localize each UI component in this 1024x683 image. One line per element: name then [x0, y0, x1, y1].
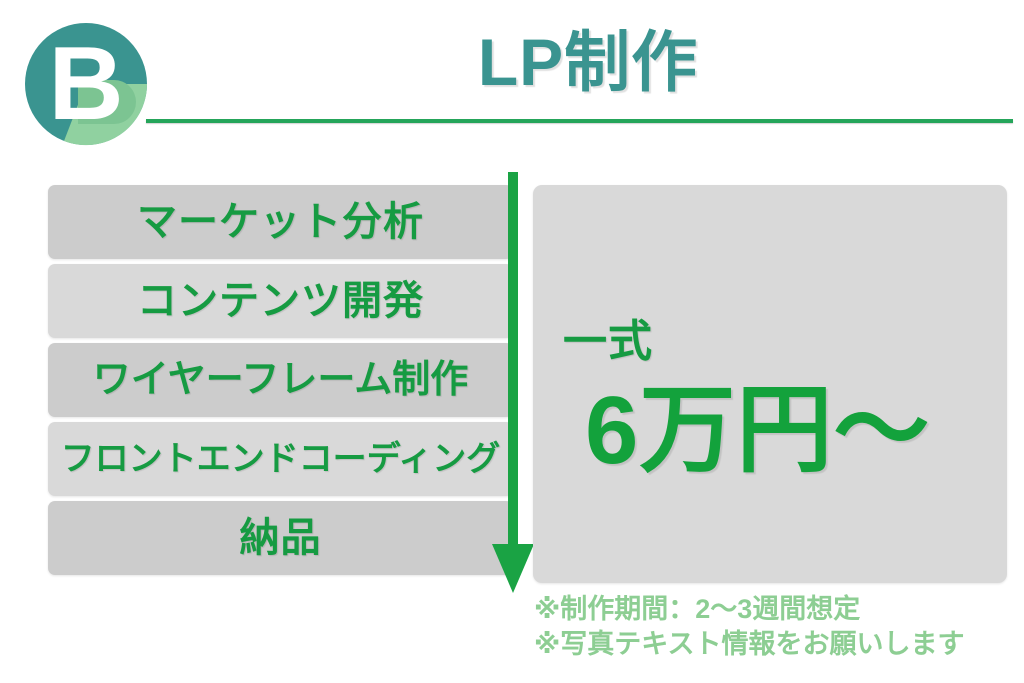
flow-arrow-down-icon	[490, 172, 536, 596]
slide-canvas: B LP制作 マーケット分析 コンテンツ開発 ワイヤーフレーム制作 フロントエン…	[0, 0, 1024, 683]
price-unit-label: 一式	[563, 320, 653, 364]
flow-arrow-down-icon-svg	[490, 172, 536, 596]
process-step-label: フロントエンドコーディング	[61, 442, 501, 476]
process-step-label: マーケット分析	[137, 202, 424, 242]
footnote-assets: ※写真テキスト情報をお願いします	[534, 627, 1020, 662]
process-step-4: フロントエンドコーディング	[48, 422, 513, 496]
process-step-label: 納品	[240, 518, 322, 558]
process-step-3: ワイヤーフレーム制作	[48, 343, 513, 417]
footnote-list: ※制作期間：2〜3週間想定 ※写真テキスト情報をお願いします	[534, 592, 1020, 661]
brand-logo: B	[22, 20, 150, 148]
footnote-duration: ※制作期間：2〜3週間想定	[534, 592, 1020, 627]
process-step-list: マーケット分析 コンテンツ開発 ワイヤーフレーム制作 フロントエンドコーディング…	[48, 185, 513, 580]
process-step-label: ワイヤーフレーム制作	[93, 361, 468, 399]
process-step-5: 納品	[48, 501, 513, 575]
process-step-label: コンテンツ開発	[137, 281, 424, 321]
header-divider	[146, 119, 1013, 123]
svg-text:B: B	[48, 26, 123, 142]
process-step-2: コンテンツ開発	[48, 264, 513, 338]
page-title: LP制作	[160, 16, 1016, 108]
process-step-1: マーケット分析	[48, 185, 513, 259]
price-amount: 6万円〜	[585, 383, 930, 479]
brand-logo-icon: B	[22, 20, 150, 148]
